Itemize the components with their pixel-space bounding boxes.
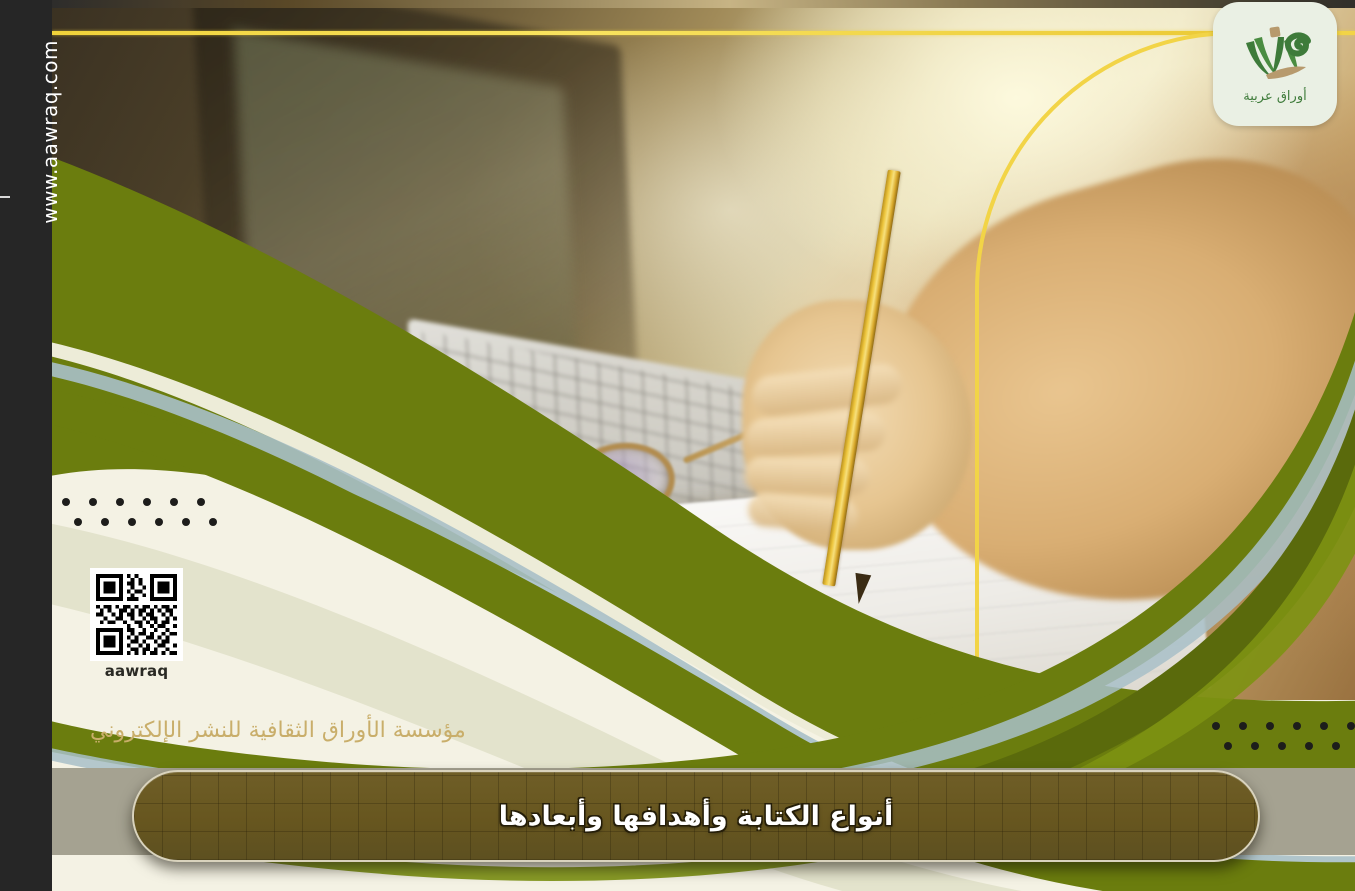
dot — [170, 498, 178, 506]
left-sidebar: www.aawraq.com — [0, 0, 52, 891]
dot — [1332, 742, 1340, 750]
cover-page: www.aawraq.com — [0, 0, 1355, 891]
dot — [101, 518, 109, 526]
dot-row — [74, 518, 217, 526]
cover-stage: aawraq مؤسسة الأوراق الثقافية للنشر الإل… — [52, 0, 1355, 891]
dot-grid-left — [62, 498, 217, 526]
dot — [1320, 722, 1328, 730]
website-url-vertical[interactable]: www.aawraq.com — [38, 40, 62, 224]
dot — [1305, 742, 1313, 750]
eyeglasses-left-lens — [448, 457, 563, 547]
dot — [62, 498, 70, 506]
logo-brand-name: أوراق عربية — [1243, 89, 1306, 104]
dot — [209, 518, 217, 526]
publisher-name: مؤسسة الأوراق الثقافية للنشر الإلكتروني — [90, 718, 466, 743]
dot — [1212, 722, 1220, 730]
dot-grid-right — [1212, 722, 1355, 750]
dot — [182, 518, 190, 526]
dot — [1266, 722, 1274, 730]
hero-photo — [52, 0, 1355, 700]
qr-label: aawraq — [90, 662, 183, 680]
dot — [1347, 722, 1355, 730]
dot — [1239, 722, 1247, 730]
sidebar-tick-mark — [0, 196, 10, 198]
dot — [197, 498, 205, 506]
dot — [155, 518, 163, 526]
finger-index — [750, 362, 903, 417]
leaf-logo-icon — [1232, 25, 1318, 87]
dot — [74, 518, 82, 526]
yellow-accent-line — [52, 31, 1355, 35]
dot — [143, 498, 151, 506]
dot-row — [62, 498, 217, 506]
dot — [1224, 742, 1232, 750]
dot-row — [1212, 722, 1355, 730]
page-title: أنواع الكتابة وأهدافها وأبعادها — [499, 801, 894, 832]
dot — [128, 518, 136, 526]
dot — [1278, 742, 1286, 750]
dot — [89, 498, 97, 506]
top-accent-strip — [52, 0, 1355, 8]
qr-code-icon[interactable] — [90, 568, 183, 661]
qr-block[interactable]: aawraq — [90, 568, 183, 680]
finger-middle — [745, 412, 887, 457]
title-banner: أنواع الكتابة وأهدافها وأبعادها — [132, 770, 1260, 862]
dot — [1293, 722, 1301, 730]
dot — [116, 498, 124, 506]
dot — [1251, 742, 1259, 750]
eyeglasses-right-lens — [565, 437, 680, 527]
brand-logo[interactable]: أوراق عربية — [1213, 2, 1337, 126]
dot-row — [1224, 742, 1355, 750]
